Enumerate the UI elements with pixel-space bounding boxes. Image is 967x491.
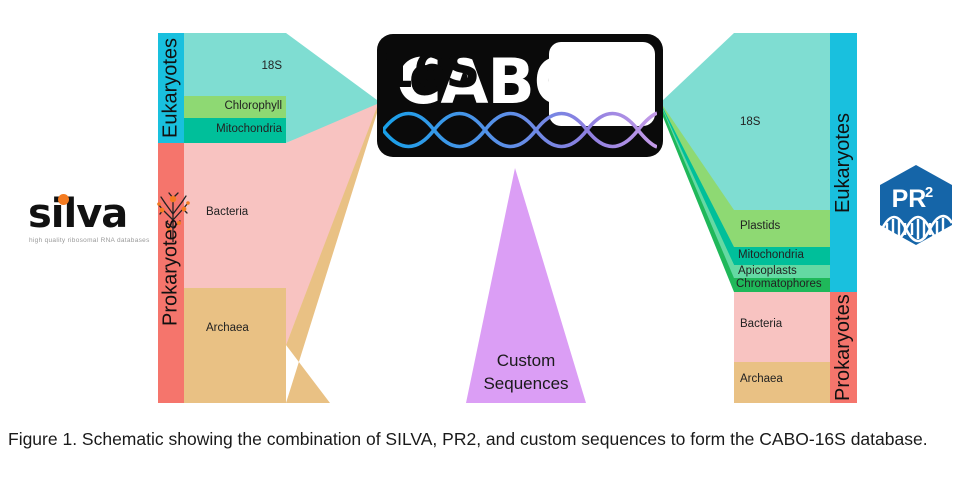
silva-label-mitochondria: Mitochondria	[186, 123, 282, 135]
silva-label-bacteria: Bacteria	[206, 206, 248, 218]
silva-label-archaea: Archaea	[206, 322, 249, 334]
pr2-superscript: 2	[925, 184, 933, 201]
pr2-hexagon-icon: PR 2	[876, 163, 956, 247]
pr2-label-chromatophores: Chromatophores	[736, 278, 822, 290]
silva-label-18s: 18S	[186, 60, 282, 72]
pr2-label-bacteria: Bacteria	[740, 318, 782, 330]
flow-bacteria	[286, 104, 377, 345]
silva-wordmark: silva	[28, 194, 127, 234]
figure-caption: Figure 1. Schematic showing the combinat…	[8, 424, 958, 454]
pr2-eukaryotes-label: Eukaryotes	[830, 33, 857, 292]
silva-eukaryotes-label: Eukaryotes	[158, 33, 184, 143]
pr2-prokaryotes-label: Prokaryotes	[830, 292, 857, 403]
silva-prokaryotes-label: Prokaryotes	[158, 143, 184, 403]
dna-helix-icon	[383, 106, 657, 154]
silva-dot-icon	[58, 194, 69, 205]
pr2-label-mitochondria: Mitochondria	[738, 249, 804, 261]
pr2-flow-ribbons	[661, 33, 734, 292]
custom-sequences-label: Custom Sequences	[466, 349, 586, 395]
custom-sequences-line1: Custom	[466, 349, 586, 372]
pr2-label: PR	[892, 185, 927, 213]
pr2-label-archaea: Archaea	[740, 373, 783, 385]
figure-1: silva high quality ribosomal RNA databas…	[0, 0, 967, 412]
cabo-logo: CABO 16S	[377, 34, 663, 157]
silva-band-archaea	[184, 288, 286, 403]
silva-flow-ribbons	[286, 33, 377, 403]
pr2-label-plastids: Plastids	[740, 220, 780, 232]
custom-sequences-line2: Sequences	[466, 372, 586, 395]
pr2-logo: PR 2	[876, 163, 956, 247]
silva-tagline: high quality ribosomal RNA databases	[29, 237, 150, 244]
silva-label-chlorophyll: Chlorophyll	[186, 100, 282, 112]
cabo-chip-label: 16S	[377, 47, 483, 95]
pr2-label-18s: 18S	[740, 116, 760, 128]
pr2-label-apicoplasts: Apicoplasts	[738, 265, 797, 277]
